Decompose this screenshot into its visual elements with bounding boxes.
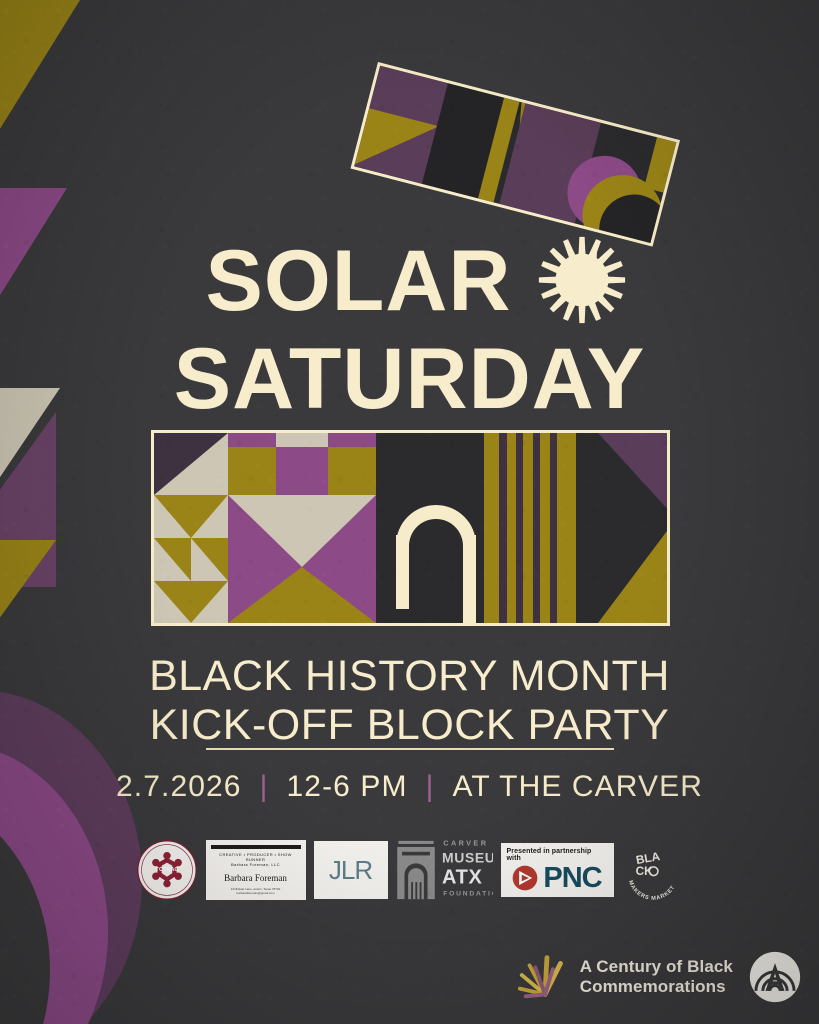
card-top-bar: [211, 845, 301, 849]
card-role-line: CREATIVE • PRODUCER • SHOW RUNNER: [211, 852, 301, 863]
carver-word-2: MUSEUM: [442, 850, 493, 866]
footer-title-line-1: A Century of Black: [580, 957, 733, 977]
geometric-quilt-panel: [151, 430, 670, 626]
poster-headline: SOLAR: [0, 240, 819, 429]
footer-title-line-2: Commemorations: [580, 977, 733, 997]
sponsor-logo-black-makers-market: BLA CK MAKERS MARKET: [622, 838, 684, 902]
card-email: barbaraforeman@gmail.com: [236, 891, 274, 895]
pnc-wordmark: PNC: [543, 864, 601, 893]
event-time: 12-6 PM: [287, 770, 408, 804]
event-date: 2.7.2026: [116, 770, 242, 804]
tctdac-seal-icon: TCTDAC: [136, 839, 198, 901]
seal-center-text: TCTDAC: [155, 867, 178, 873]
subtitle-line-1: BLACK HISTORY MONTH: [0, 652, 819, 701]
footer-branding: A Century of Black Commemorations: [516, 948, 801, 1006]
event-details-line: 2.7.2026 | 12-6 PM | AT THE CARVER: [0, 770, 819, 804]
bmm-word-bottom: CK: [635, 865, 652, 878]
decor-banner-strip: [350, 62, 680, 247]
carver-monogram-icon: [749, 951, 801, 1003]
carver-word-4: FOUNDATION: [443, 890, 493, 897]
pnc-partnership-text: Presented in partnership with: [507, 848, 608, 862]
black-makers-market-icon: BLA CK MAKERS MARKET: [622, 839, 684, 901]
sponsor-logo-strip: TCTDAC CREATIVE • PRODUCER • SHOW RUNNER…: [0, 833, 819, 907]
pnc-mark-icon: [512, 865, 538, 891]
subtitle-line-2: KICK-OFF BLOCK PARTY: [0, 701, 819, 750]
carver-word-1: CARVER: [443, 839, 488, 848]
title-line-1: SOLAR: [194, 242, 512, 322]
detail-separator-2: |: [426, 770, 435, 804]
footer-title: A Century of Black Commemorations: [580, 957, 733, 996]
card-person-name: Barbara Foreman: [224, 873, 287, 883]
sun-icon: [538, 236, 626, 324]
poster-canvas: SOLAR: [0, 0, 819, 1024]
event-venue: AT THE CARVER: [453, 770, 703, 804]
sponsor-logo-barbara-foreman-card: CREATIVE • PRODUCER • SHOW RUNNER Barbar…: [206, 840, 306, 900]
jlr-wordmark: JLR: [329, 855, 372, 886]
card-company-line: Barbara Foreman, LLC: [231, 862, 280, 867]
sponsor-logo-tctdac-seal: TCTDAC: [136, 836, 198, 904]
title-line-2: SATURDAY: [0, 330, 819, 429]
decor-triangle-gold-top: [0, 0, 80, 190]
bmm-ring-text: MAKERS MARKET: [626, 880, 676, 901]
sponsor-logo-jlr: JLR: [314, 841, 388, 899]
carver-museum-icon: CARVER MUSEUM ATX FOUNDATION: [396, 837, 493, 903]
divider-rule: [206, 748, 614, 750]
sunburst-icon: [516, 948, 574, 1006]
carver-word-3: ATX: [442, 866, 482, 888]
svg-text:MAKERS MARKET: MAKERS MARKET: [626, 880, 676, 901]
detail-separator-1: |: [260, 770, 269, 804]
sponsor-logo-pnc: Presented in partnership with PNC: [501, 843, 614, 897]
poster-subtitle: BLACK HISTORY MONTH KICK-OFF BLOCK PARTY: [0, 652, 819, 749]
sponsor-logo-carver-museum: CARVER MUSEUM ATX FOUNDATION: [396, 837, 493, 903]
